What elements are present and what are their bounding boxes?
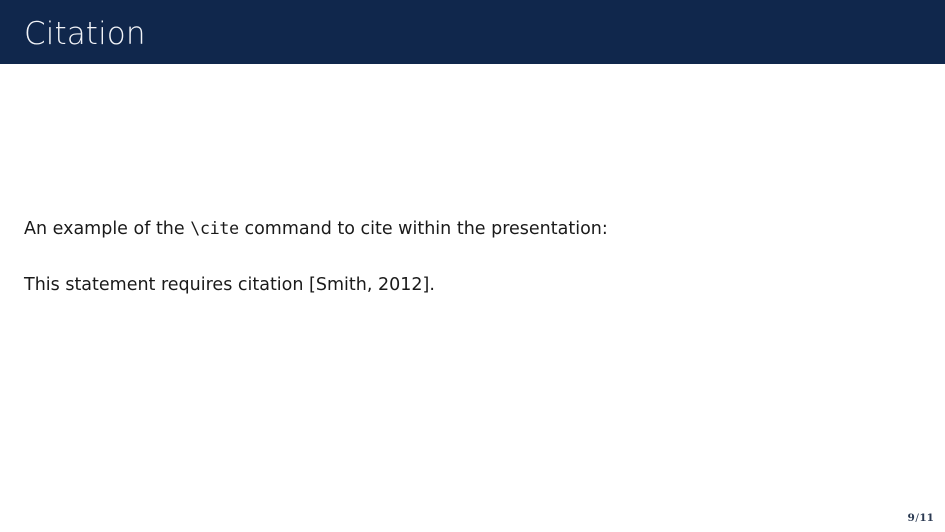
paragraph-cite-command-intro: An example of the \cite command to cite … [24, 217, 608, 241]
paragraph-citation-statement: This statement requires citation [Smith,… [24, 273, 435, 297]
slide-title-bar: Citation [0, 0, 945, 64]
presentation-slide: Citation An example of the \cite command… [0, 0, 945, 532]
page-counter: 9/11 [908, 512, 934, 525]
paragraph-1-suffix-text: command to cite within the presentation: [239, 219, 608, 239]
slide-body: An example of the \cite command to cite … [24, 64, 921, 532]
current-page-number: 9 [908, 512, 915, 524]
cite-command-code: \cite [190, 219, 239, 238]
paragraph-1-prefix-text: An example of the [24, 219, 190, 239]
page-title: Citation [24, 15, 146, 53]
total-page-number: 11 [919, 512, 934, 524]
